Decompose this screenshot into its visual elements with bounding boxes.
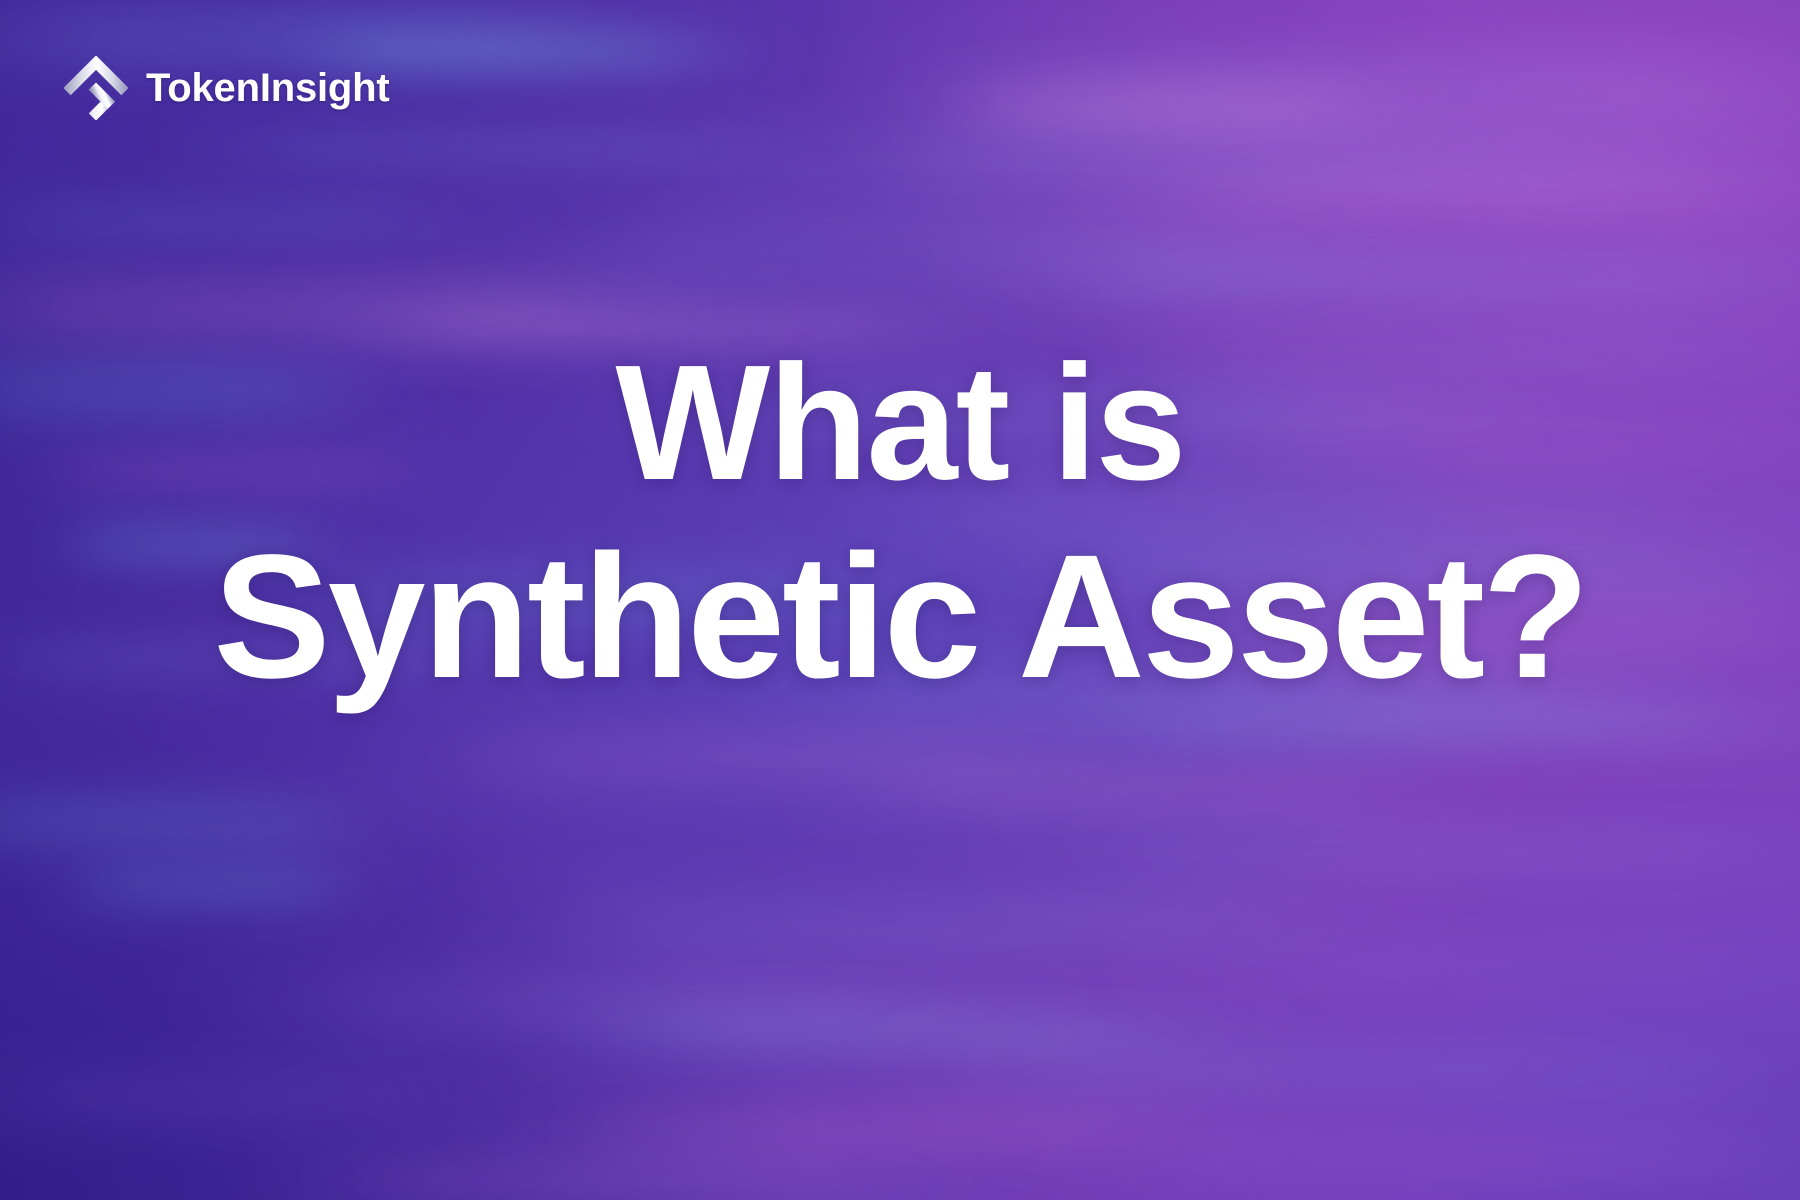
headline-line-1: What is [120, 330, 1680, 517]
brand-logo[interactable]: TokenInsight [64, 56, 390, 120]
background-streak [1044, 1146, 1800, 1168]
background-streak [432, 234, 1476, 264]
background-streak [936, 264, 1800, 288]
background-streak [0, 210, 540, 230]
background-streak [900, 96, 1440, 118]
background-streak [180, 990, 1080, 1016]
tokeninsight-cover-card: TokenInsight What is Synthetic Asset? [0, 0, 1800, 1200]
background-streak [864, 1056, 1800, 1082]
background-streak [684, 150, 1800, 176]
background-streak [468, 1116, 1296, 1140]
background-streak [144, 138, 864, 156]
background-streak [252, 1170, 972, 1190]
background-streak [432, 912, 1476, 938]
background-streak [0, 1086, 540, 1108]
background-streak [36, 876, 396, 896]
tokeninsight-diamond-logo-icon [64, 56, 128, 120]
background-streak [972, 840, 1800, 866]
background-streak [504, 1020, 1296, 1042]
background-streak [360, 744, 1188, 770]
background-streak [0, 294, 792, 320]
background-streak [0, 810, 432, 832]
background-streak [792, 780, 1512, 802]
cover-headline: What is Synthetic Asset? [0, 330, 1800, 718]
headline-line-2: Synthetic Asset? [120, 517, 1680, 718]
background-streak [1080, 186, 1800, 208]
brand-wordmark: TokenInsight [146, 68, 390, 108]
background-streak [1116, 954, 1800, 978]
